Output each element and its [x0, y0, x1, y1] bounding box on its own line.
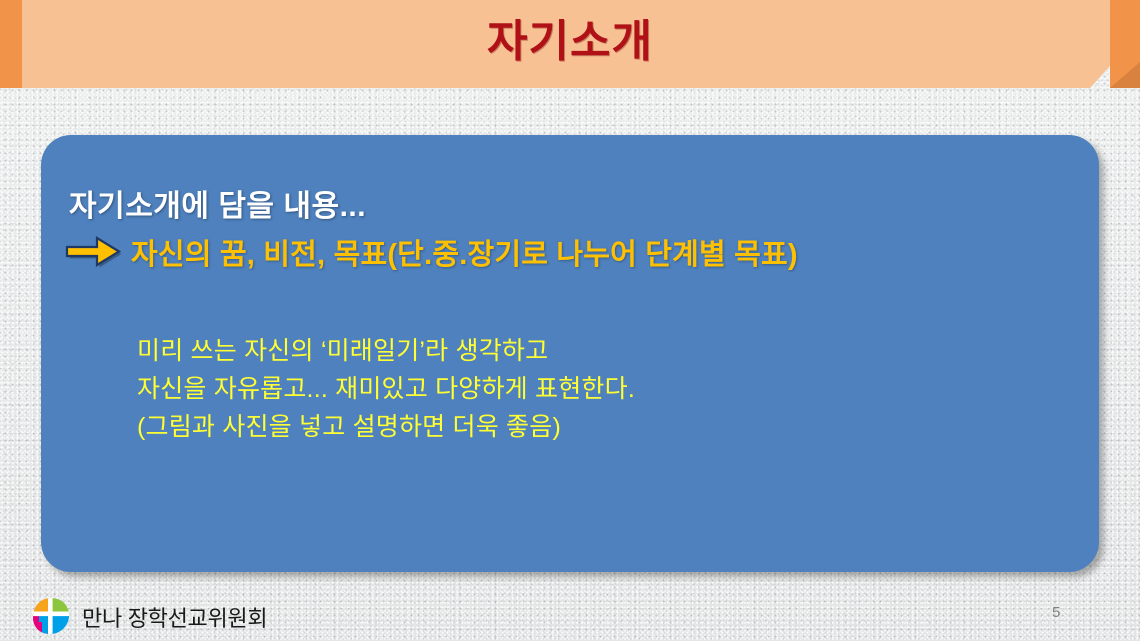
right-arrow-icon: [65, 236, 121, 268]
slide: 자기소개 자기소개에 담을 내용... 자신의 꿈, 비전, 목표(단.중.장기…: [0, 0, 1140, 641]
content-heading: 자기소개에 담을 내용...: [69, 181, 366, 225]
body-line: 미리 쓰는 자신의 ‘미래일기’라 생각하고: [137, 332, 635, 370]
manna-logo-icon: [31, 596, 71, 636]
slide-header: 자기소개: [0, 0, 1140, 88]
page-number: 5: [1052, 604, 1060, 621]
content-panel: 자기소개에 담을 내용... 자신의 꿈, 비전, 목표(단.중.장기로 나누어…: [41, 135, 1099, 572]
bullet-text: 자신의 꿈, 비전, 목표(단.중.장기로 나누어 단계별 목표): [131, 231, 798, 273]
bullet-item: 자신의 꿈, 비전, 목표(단.중.장기로 나누어 단계별 목표): [65, 231, 798, 273]
body-line: (그림과 사진을 넣고 설명하면 더욱 좋음): [137, 408, 635, 446]
body-text-block: 미리 쓰는 자신의 ‘미래일기’라 생각하고 자신을 자유롭고... 재미있고 …: [137, 332, 635, 446]
page-title: 자기소개: [0, 0, 1140, 88]
footer-organization: 만나 장학선교위원회: [82, 601, 267, 633]
body-line: 자신을 자유롭고... 재미있고 다양하게 표현한다.: [137, 370, 635, 408]
